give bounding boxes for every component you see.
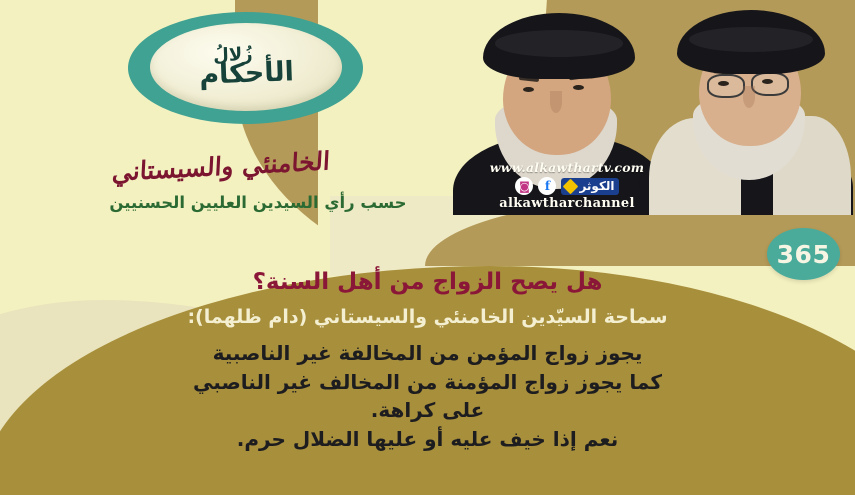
program-logo: زُلالُ الأحكام bbox=[128, 12, 363, 124]
portrait-ayatollah-khamenei bbox=[645, 10, 850, 215]
channel-website-url: www.alkawthartv.com bbox=[481, 160, 653, 175]
infographic-card: زُلالُ الأحكام الخامنئي والسيستاني حسب ر… bbox=[0, 0, 855, 495]
social-icons-row: الكوثر f ◙ bbox=[481, 177, 653, 195]
logo-title-bottom: الأحكام bbox=[199, 60, 294, 89]
alkawthar-logo-arabic: الكوثر bbox=[579, 180, 614, 192]
diamond-icon bbox=[563, 178, 579, 194]
logo-disc: زُلالُ الأحكام bbox=[150, 23, 342, 111]
channel-watermark: www.alkawthartv.com الكوثر f ◙ alkawthar… bbox=[481, 160, 653, 211]
logo-title: زُلالُ الأحكام bbox=[198, 45, 294, 89]
attribution-text: سماحة السيّدين الخامنئي والسيستاني (دام … bbox=[0, 305, 855, 330]
answer-line: على كراهة. bbox=[0, 396, 855, 424]
answer-line: يجوز زواج المؤمن من المخالفة غير الناصبي… bbox=[0, 339, 855, 367]
answer-line: نعم إذا خيف عليه أو عليها الضلال حرم. bbox=[0, 425, 855, 453]
episode-number: 365 bbox=[777, 240, 831, 269]
question-text: هل يصح الزواج من أهل السنة؟ bbox=[0, 268, 855, 297]
facebook-icon: f bbox=[538, 177, 556, 195]
content-block: هل يصح الزواج من أهل السنة؟ سماحة السيّد… bbox=[0, 268, 855, 453]
alkawthar-logo-icon: الكوثر bbox=[561, 178, 618, 195]
channel-handle: alkawtharchannel bbox=[481, 196, 653, 211]
instagram-icon: ◙ bbox=[515, 177, 533, 195]
answer-text: يجوز زواج المؤمن من المخالفة غير الناصبي… bbox=[0, 339, 855, 453]
answer-line: كما يجوز زواج المؤمنة من المخالف غير الن… bbox=[0, 368, 855, 396]
subtitle-text: حسب رأي السيدين العليين الحسنيين bbox=[108, 193, 408, 212]
